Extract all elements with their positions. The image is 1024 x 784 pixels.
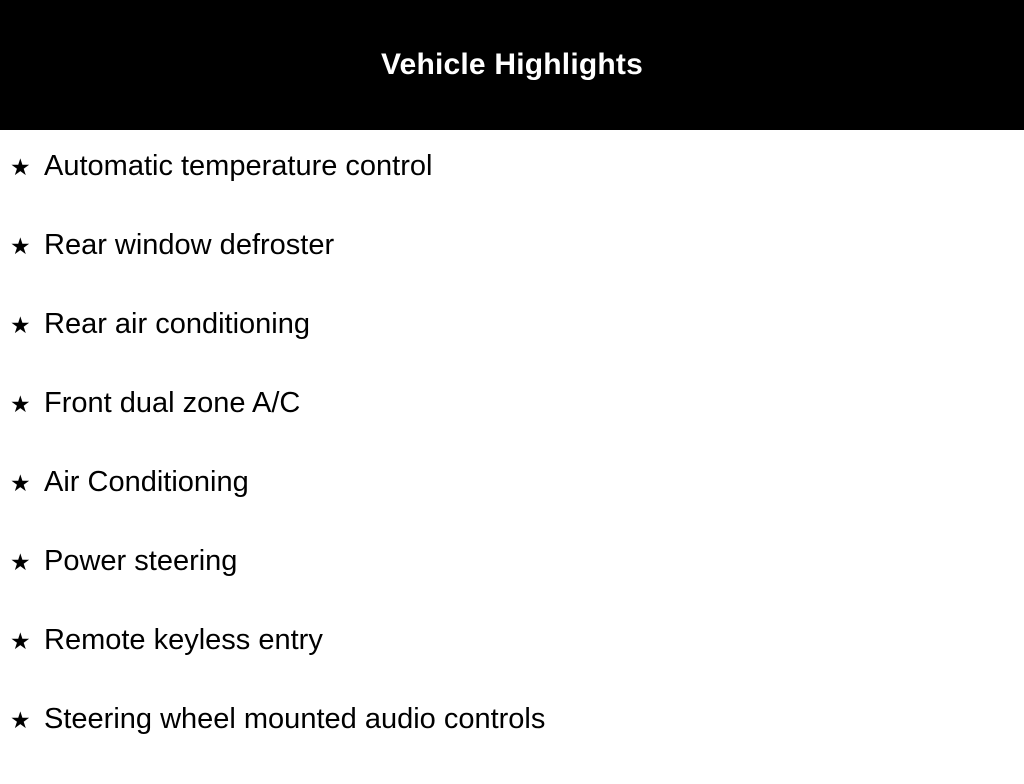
- list-item: ★ Steering wheel mounted audio controls: [0, 705, 1024, 784]
- list-item: ★ Power steering: [0, 547, 1024, 626]
- list-item: ★ Remote keyless entry: [0, 626, 1024, 705]
- list-item: ★ Automatic temperature control: [0, 152, 1024, 231]
- list-item-label: Front dual zone A/C: [44, 389, 300, 418]
- list-item-label: Rear window defroster: [44, 231, 334, 260]
- list-item-label: Rear air conditioning: [44, 310, 310, 339]
- star-bullet-icon: ★: [10, 236, 44, 259]
- star-bullet-icon: ★: [10, 157, 44, 180]
- header-bar: Vehicle Highlights: [0, 0, 1024, 130]
- list-item: ★ Front dual zone A/C: [0, 389, 1024, 468]
- list-item-label: Automatic temperature control: [44, 152, 432, 181]
- star-bullet-icon: ★: [10, 315, 44, 338]
- star-bullet-icon: ★: [10, 394, 44, 417]
- list-item: ★ Rear air conditioning: [0, 310, 1024, 389]
- vehicle-highlights-page: Vehicle Highlights ★ Automatic temperatu…: [0, 0, 1024, 768]
- list-item: ★ Rear window defroster: [0, 231, 1024, 310]
- star-bullet-icon: ★: [10, 710, 44, 733]
- list-item: ★ Air Conditioning: [0, 468, 1024, 547]
- page-title: Vehicle Highlights: [381, 50, 643, 80]
- list-item-label: Steering wheel mounted audio controls: [44, 705, 545, 734]
- list-item-label: Remote keyless entry: [44, 626, 323, 655]
- vehicle-highlights-list: ★ Automatic temperature control ★ Rear w…: [0, 130, 1024, 784]
- star-bullet-icon: ★: [10, 631, 44, 654]
- list-item-label: Power steering: [44, 547, 237, 576]
- star-bullet-icon: ★: [10, 552, 44, 575]
- list-item-label: Air Conditioning: [44, 468, 249, 497]
- star-bullet-icon: ★: [10, 473, 44, 496]
